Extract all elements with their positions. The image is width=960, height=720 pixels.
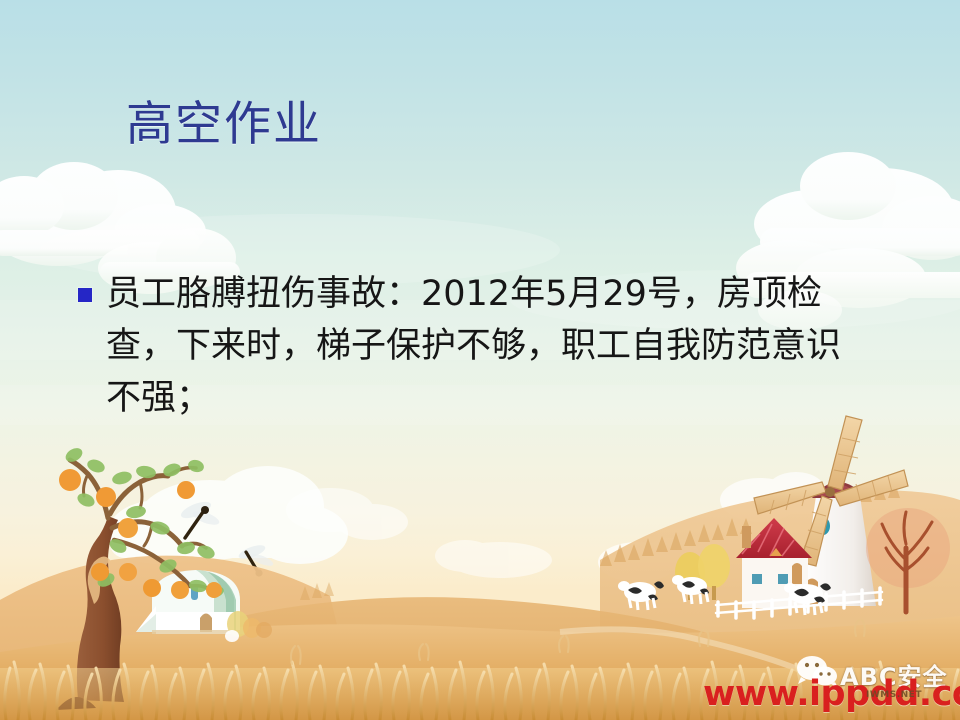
- bullet-square-icon: [78, 288, 92, 302]
- slide-title: 高空作业: [126, 100, 322, 149]
- watermark-credit: IWMS.NET: [866, 690, 922, 700]
- cloud-small-far: [435, 540, 552, 578]
- bullet-list: 员工胳膊扭伤事故：2012年5月29号，房顶检查，下来时，梯子保护不够，职工自我…: [78, 268, 898, 424]
- bullet-item-text: 员工胳膊扭伤事故：2012年5月29号，房顶检查，下来时，梯子保护不够，职工自我…: [106, 268, 866, 424]
- presentation-slide: 高空作业 员工胳膊扭伤事故：2012年5月29号，房顶检查，下来时，梯子保护不够…: [0, 0, 960, 720]
